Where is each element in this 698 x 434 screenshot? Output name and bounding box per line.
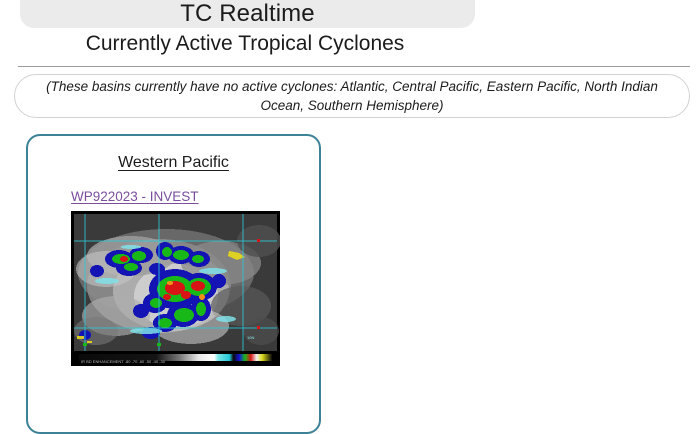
colorbar-strip: IR BD ENHANCEMENT -80 -70 -60 -50 -40 -3…: [74, 352, 277, 364]
header-divider: [18, 66, 690, 67]
page-title-bar: TC Realtime: [20, 0, 475, 28]
storm-list: WP922023 - INVEST: [28, 172, 319, 366]
page-title: TC Realtime: [180, 2, 314, 27]
svg-text:IR BD ENHANCEMENT -80 -70: IR BD ENHANCEMENT -80 -70 -60 -50 -40 -3…: [81, 359, 166, 364]
storm-link-wp922023[interactable]: WP922023 - INVEST: [71, 189, 199, 204]
svg-text:10N: 10N: [247, 335, 254, 340]
basin-card-western-pacific: Western Pacific WP922023 - INVEST: [26, 134, 321, 434]
basin-heading: Western Pacific: [28, 154, 319, 172]
list-item: WP922023 - INVEST: [28, 172, 319, 366]
inactive-basins-notice-text: (These basins currently have no active c…: [29, 77, 675, 115]
inactive-basins-notice: (These basins currently have no active c…: [14, 74, 690, 118]
page-subtitle: Currently Active Tropical Cyclones: [0, 32, 490, 56]
satellite-image-wp922023[interactable]: 10N IR BD ENHANCEMENT -80 -70 -60 -50 -4…: [71, 211, 280, 366]
